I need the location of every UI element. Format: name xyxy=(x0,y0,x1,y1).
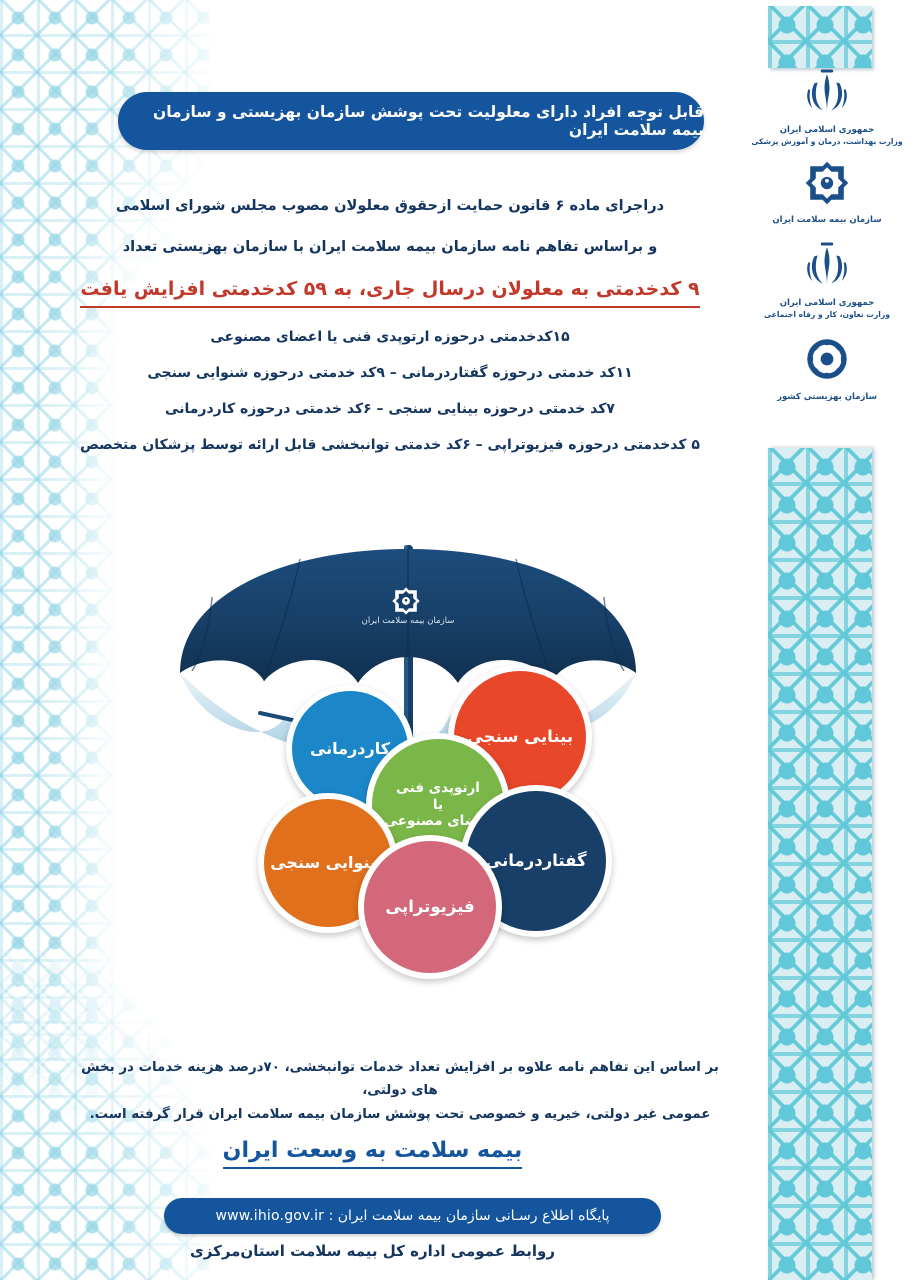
logo-caption-line1: جمهوری اسلامی ایران xyxy=(780,297,875,309)
service-circle-label: گفتاردرمانی xyxy=(485,851,586,872)
logo-column: جمهوری اسلامی ایران وزارت بهداشت، درمان … xyxy=(742,62,912,403)
logo-caption-line2: وزارت بهداشت، درمان و آموزش پزشکی xyxy=(751,136,902,147)
logo-behzisti: سازمان بهزیستی کشور xyxy=(742,330,912,403)
iran-emblem-icon xyxy=(796,235,858,297)
umbrella-logo-caption: سازمان بیمه سلامت ایران xyxy=(362,616,455,626)
umbrella-ihio-logo-icon xyxy=(392,587,419,614)
body-highlight-line: ۹ کدخدمتی به معلولان درسال جاری، به ۵۹ ک… xyxy=(80,277,699,308)
body-line-1: دراجرای ماده ۶ قانون حمایت ازحقوق معلولا… xyxy=(60,196,720,216)
logo-ministry-of-health: جمهوری اسلامی ایران وزارت بهداشت، درمان … xyxy=(742,62,912,147)
body-detail-2: ۱۱کد خدمتی درحوزه گفتاردرمانی – ۹کد خدمت… xyxy=(60,364,720,383)
website-banner[interactable]: پایگاه اطلاع رسـانی سازمان بیمه سلامت ای… xyxy=(164,1198,661,1234)
bottom-paragraph: بر اساس این تفاهم نامه علاوه بر افزایش ت… xyxy=(70,1056,730,1126)
footer-organization: روابط عمومی اداره کل بیمه سلامت استان‌مر… xyxy=(0,1242,745,1260)
logo-caption-line1: سازمان بیمه سلامت ایران xyxy=(772,214,881,226)
header-banner: قابل توجه افراد دارای معلولیت تحت پوشش س… xyxy=(118,92,704,150)
body-detail-4: ۵ کدخدمتی درحوزه فیزیوتراپی – ۶کد خدمتی … xyxy=(60,436,720,455)
logo-caption-line2: وزارت تعاون، کار و رفاه اجتماعی xyxy=(764,309,890,320)
decorative-tile-top-right xyxy=(768,6,872,68)
umbrella-illustration: سازمان بیمه سلامت ایران کاردرمانی بینایی… xyxy=(150,505,670,1005)
iran-emblem-icon xyxy=(796,62,858,124)
logo-caption-line1: سازمان بهزیستی کشور xyxy=(777,391,877,403)
bottom-paragraph-line-1: بر اساس این تفاهم نامه علاوه بر افزایش ت… xyxy=(70,1056,730,1103)
behzisti-logo-icon xyxy=(798,330,856,388)
body-detail-3: ۷کد خدمتی درحوزه بینایی سنجی – ۶کد خدمتی… xyxy=(60,400,720,419)
service-circle-label: فیزیوتراپی xyxy=(385,897,474,918)
body-detail-1: ۱۵کدخدمتی درحوزه ارتوپدی فنی یا اعضای مص… xyxy=(60,328,720,347)
decorative-strip-right xyxy=(768,448,872,1280)
body-line-2: و براساس تفاهم نامه سازمان بیمه سلامت ای… xyxy=(60,237,720,257)
service-circle-label: کاردرمانی xyxy=(310,739,390,759)
header-title: قابل توجه افراد دارای معلولیت تحت پوشش س… xyxy=(118,103,704,139)
slogan: بیمه سلامت به وسعت ایران xyxy=(0,1138,745,1163)
website-text: پایگاه اطلاع رسـانی سازمان بیمه سلامت ای… xyxy=(215,1208,609,1224)
ihio-logo-icon xyxy=(799,155,855,211)
service-circle-physiotherapy: فیزیوتراپی xyxy=(358,835,502,979)
main-text-block: دراجرای ماده ۶ قانون حمایت ازحقوق معلولا… xyxy=(60,196,720,472)
logo-ihio: سازمان بیمه سلامت ایران xyxy=(742,155,912,226)
logo-ministry-of-welfare: جمهوری اسلامی ایران وزارت تعاون، کار و ر… xyxy=(742,235,912,320)
logo-caption-line1: جمهوری اسلامی ایران xyxy=(780,124,875,136)
bottom-paragraph-line-2: عمومی غیر دولتی، خیریه و خصوصی تحت پوشش … xyxy=(70,1103,730,1126)
slogan-text: بیمه سلامت به وسعت ایران xyxy=(223,1138,523,1169)
service-circle-label: بینایی سنجی xyxy=(467,727,573,748)
